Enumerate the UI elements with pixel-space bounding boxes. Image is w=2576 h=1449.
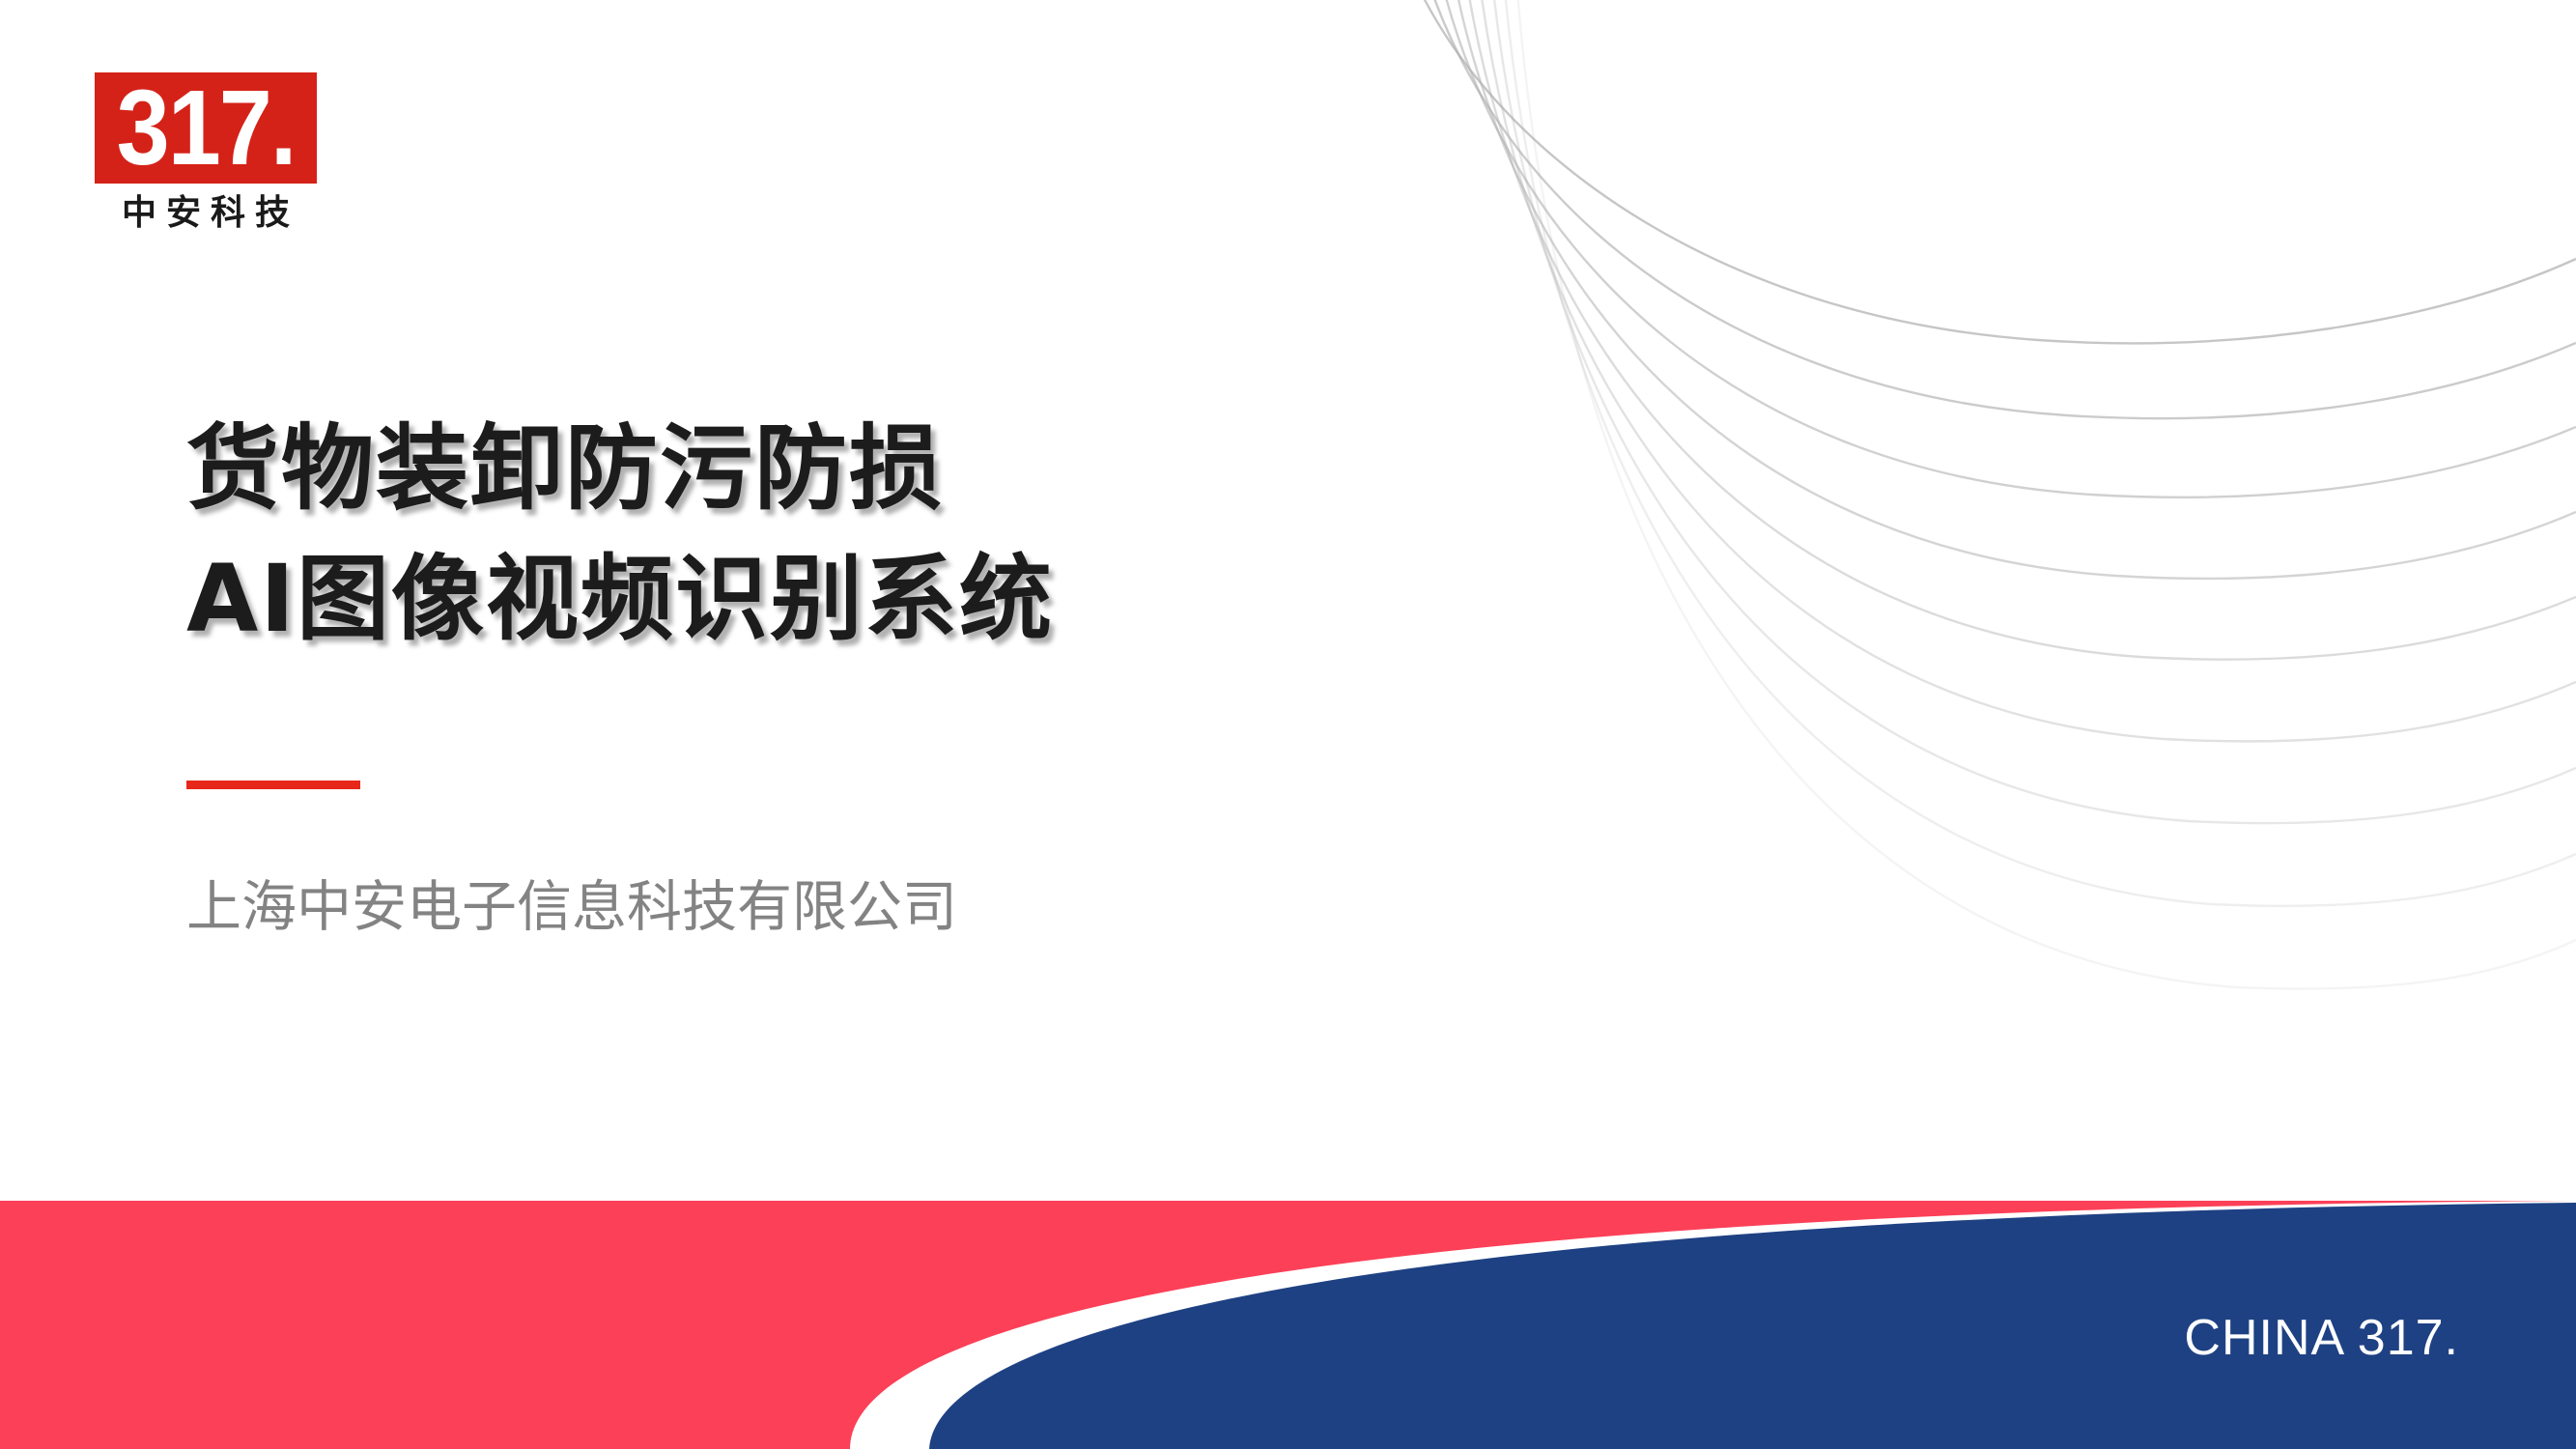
logo-mark-text: 317. bbox=[117, 73, 296, 181]
logo-mark-badge: 317. bbox=[95, 72, 317, 184]
footer-brand-text: CHINA 317. bbox=[2184, 1309, 2459, 1367]
logo-subtitle-text: 中安科技 bbox=[95, 194, 317, 233]
page-title-line-1: 货物装卸防污防损 bbox=[186, 404, 1539, 534]
page-title-line-2: AI图像视频识别系统 bbox=[186, 534, 1539, 665]
title-divider-rule bbox=[186, 781, 360, 789]
slide-canvas: 317. 中安科技 货物装卸防污防损 AI图像视频识别系统 上海中安电子信息科技… bbox=[0, 0, 2576, 1449]
company-logo: 317. 中安科技 bbox=[95, 72, 317, 233]
page-title: 货物装卸防污防损 AI图像视频识别系统 bbox=[186, 404, 1539, 665]
company-name-text: 上海中安电子信息科技有限公司 bbox=[186, 869, 957, 945]
